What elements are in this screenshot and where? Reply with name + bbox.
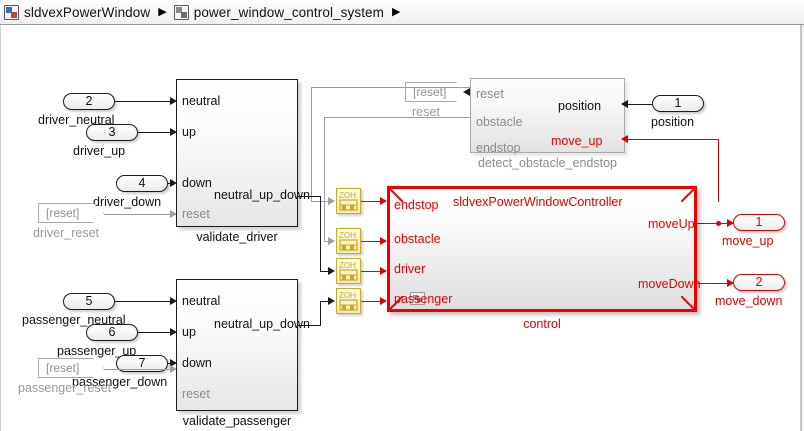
block-zoh-obstacle[interactable]: ZOH [336, 228, 361, 254]
inport-label-driver_up: driver_up [73, 145, 125, 158]
line-move_up-feedback-v [718, 139, 719, 202]
inport-position[interactable]: 1 [652, 95, 704, 112]
chevron-right-icon-2: ▶ [392, 7, 400, 18]
junction-moveUp [716, 221, 721, 226]
port-label-control-driver: driver [394, 263, 425, 276]
port-label-control-obstacle: obstacle [394, 233, 441, 246]
breadcrumb-label-subsystem: power_window_control_system [194, 5, 384, 20]
arrow-detect-position [621, 100, 628, 108]
port-label-validate_driver-reset: reset [182, 208, 210, 221]
outport-label-move_up: move_up [722, 235, 773, 248]
outport-move_up[interactable]: 1 [733, 214, 785, 231]
block-name-detect_obstacle_endstop: detect_obstacle_endstop [470, 156, 625, 170]
from-tag-label-driver_reset: driver_reset [33, 227, 99, 240]
line-endstop-feedback-h [311, 87, 471, 88]
block-zoh-driver[interactable]: ZOH [336, 258, 361, 284]
inport-driver_neutral[interactable]: 2 [63, 93, 115, 110]
line-driver-out-h1 [297, 196, 321, 197]
from-tag-reset[interactable]: [reset] [405, 82, 467, 102]
block-zoh-passenger[interactable]: ZOH [336, 288, 361, 314]
port-label-validate_passenger-up: up [182, 326, 196, 339]
block-name-validate_driver: validate_driver [176, 230, 298, 244]
line-endstop-feedback-v [311, 87, 312, 201]
subsystem-icon [174, 5, 189, 20]
line-passenger_up [138, 332, 173, 333]
arrow-detect-reset [463, 88, 470, 96]
model-canvas[interactable]: 2 driver_neutral 3 driver_up 4 driver_do… [0, 25, 804, 431]
port-label-detect-move_up: move_up [551, 135, 602, 148]
outport-label-move_down: move_down [715, 295, 782, 308]
line-passenger-out-v [320, 301, 321, 326]
port-label-validate_driver-up: up [182, 126, 196, 139]
line-move_up-feedback-h [628, 139, 719, 140]
from-tag-label-passenger_reset: passenger_reset [18, 382, 111, 395]
line-passenger-out-h1 [297, 325, 321, 326]
arrow-zoh-obstacle-in [328, 237, 335, 245]
port-label-control-moveDown: moveDown [638, 278, 701, 291]
block-name-validate_passenger: validate_passenger [176, 414, 298, 428]
port-label-validate_driver-down: down [182, 177, 212, 190]
arrow-control-obstacle [380, 237, 387, 245]
from-tag-driver_reset[interactable]: [reset] [38, 203, 104, 223]
line-driver_up [138, 132, 173, 133]
svg-text:ZOH: ZOH [339, 191, 356, 200]
port-label-detect-position: position [558, 100, 601, 113]
line-passenger_reset [104, 369, 173, 370]
breadcrumb-item-subsystem[interactable]: power_window_control_system ▶ [174, 0, 408, 24]
line-obstacle-feedback-v [324, 117, 325, 241]
corner-br [681, 296, 695, 310]
port-label-detect-obstacle: obstacle [476, 116, 523, 129]
arrow-control-driver [380, 267, 387, 275]
canvas-left-edge [0, 25, 1, 431]
arrow-zoh-endstop-in [328, 197, 335, 205]
arrow-detect-move_up [621, 135, 628, 143]
svg-text:ZOH: ZOH [339, 231, 356, 240]
breadcrumb-item-model[interactable]: sldvexPowerWindow ▶ [4, 0, 174, 24]
from-tag-passenger_reset[interactable]: [reset] [38, 358, 104, 378]
breadcrumb: sldvexPowerWindow ▶ power_window_control… [0, 0, 804, 25]
control-block-title: sldvexPowerWindowController [453, 195, 623, 209]
inport-label-driver_down: driver_down [93, 196, 161, 209]
port-label-validate_passenger-neutral: neutral [182, 295, 220, 308]
port-label-control-passenger: passenger [394, 293, 452, 306]
inport-driver_up[interactable]: 3 [86, 124, 138, 141]
canvas-right-scrollbar[interactable] [800, 25, 802, 431]
arrow-control-passenger [380, 297, 387, 305]
line-driver_reset [104, 214, 173, 215]
port-label-validate_driver-neutral: neutral [182, 95, 220, 108]
port-label-control-endstop: endstop [394, 199, 438, 212]
arrow-zoh-passenger-in [328, 297, 335, 305]
chevron-right-icon-1: ▶ [158, 7, 166, 18]
svg-text:ZOH: ZOH [339, 261, 356, 270]
line-driver-out-v [320, 196, 321, 271]
inport-passenger_up[interactable]: 6 [86, 324, 138, 341]
line-driver_neutral [115, 101, 173, 102]
breadcrumb-label-model: sldvexPowerWindow [24, 5, 150, 20]
block-zoh-endstop[interactable]: ZOH [336, 188, 361, 214]
port-label-detect-endstop: endstop [476, 142, 520, 155]
model-icon [4, 5, 19, 20]
svg-text:ZOH: ZOH [339, 291, 356, 300]
port-label-validate_passenger-down: down [182, 357, 212, 370]
port-label-validate_passenger-out: neutral_up_down [214, 318, 310, 331]
block-name-control: control [387, 317, 697, 331]
inport-driver_down[interactable]: 4 [116, 175, 168, 192]
line-passenger_neutral [115, 301, 173, 302]
outport-move_down[interactable]: 2 [733, 274, 785, 291]
port-label-control-moveUp: moveUp [648, 218, 695, 231]
arrow-zoh-driver-in [328, 267, 335, 275]
arrow-control-endstop [380, 197, 387, 205]
port-label-detect-reset: reset [476, 88, 504, 101]
corner-tr [681, 188, 695, 202]
inport-label-position: position [651, 116, 694, 129]
line-obstacle-feedback-h [324, 117, 471, 118]
port-label-validate_driver-out: neutral_up_down [214, 189, 310, 202]
port-label-validate_passenger-reset: reset [182, 388, 210, 401]
inport-passenger_neutral[interactable]: 5 [63, 293, 115, 310]
